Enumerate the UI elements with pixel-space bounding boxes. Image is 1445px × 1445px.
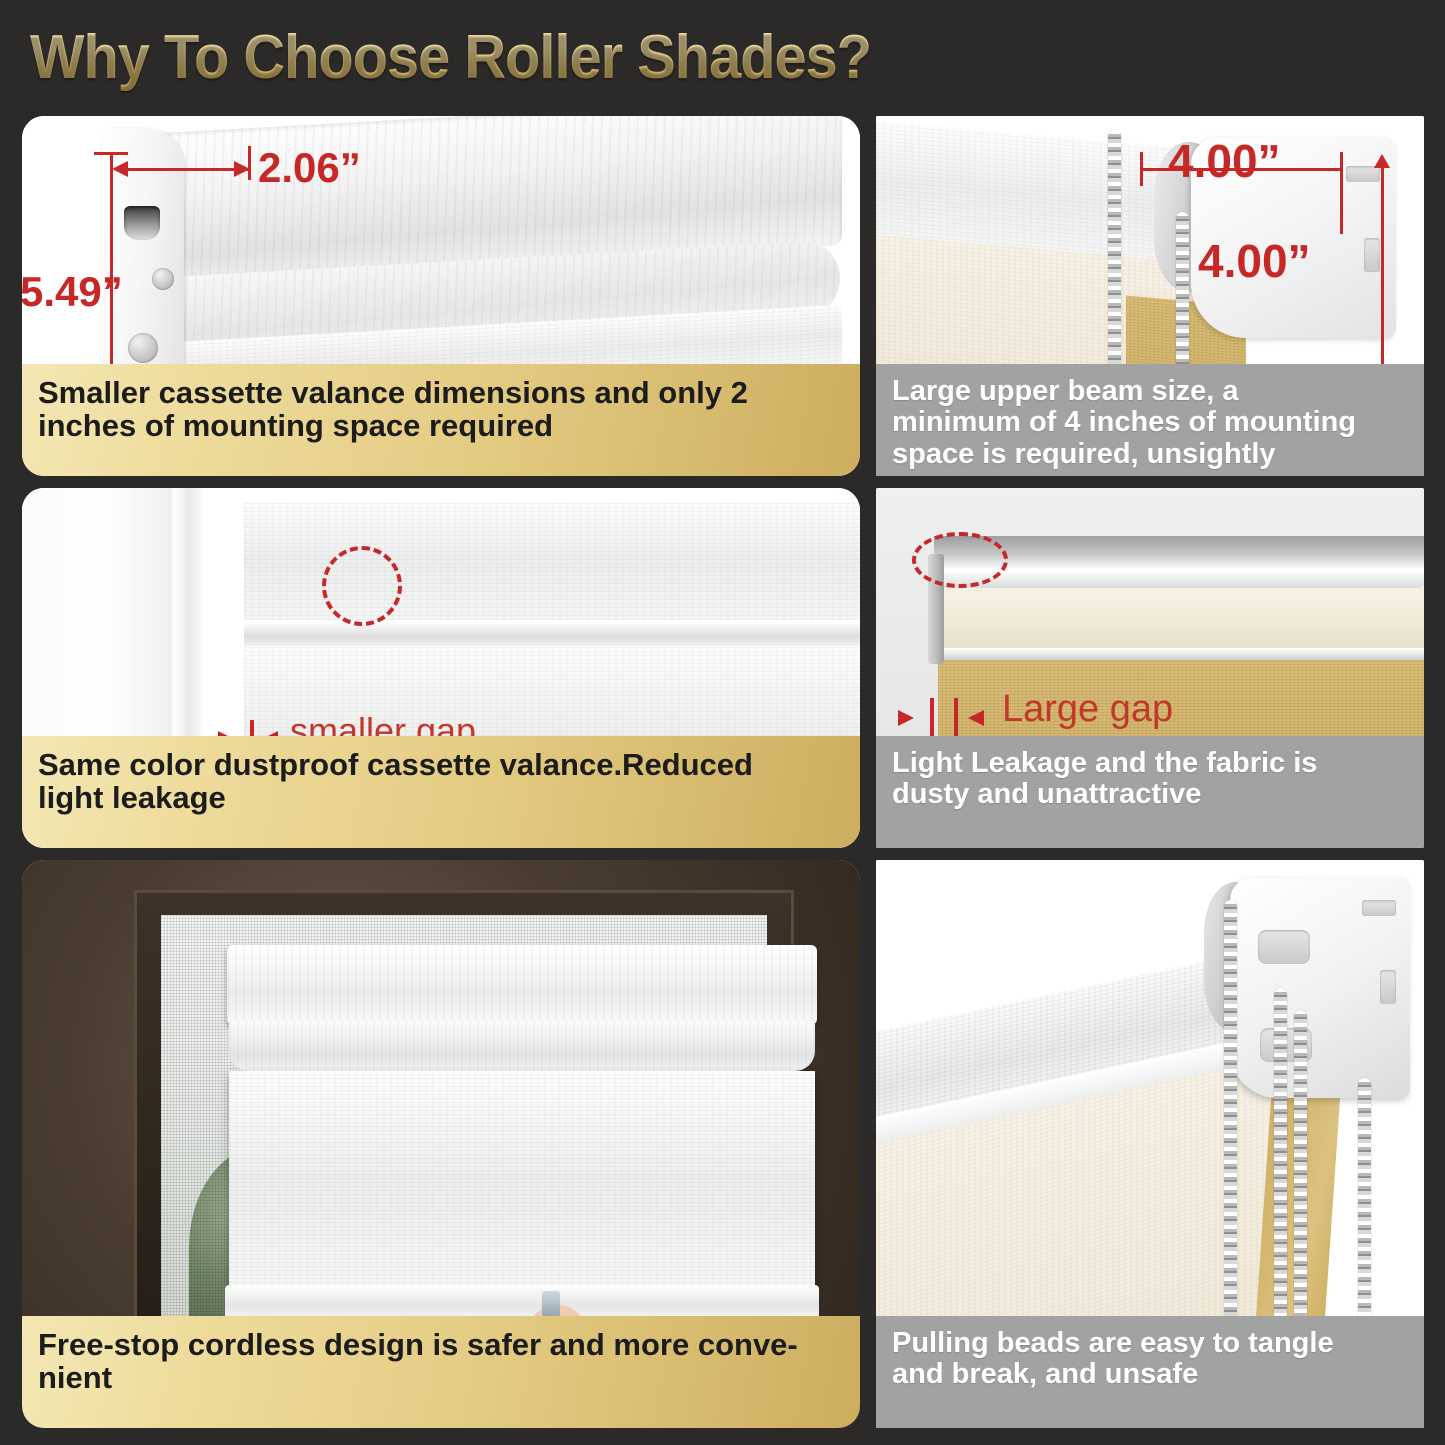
bead-chain-4 <box>1358 1078 1371 1320</box>
window-frame <box>134 890 794 1360</box>
caption-line-3: space is required, unsightly <box>892 439 1408 470</box>
caption-line-2: light leakage <box>38 781 844 814</box>
gap-highlight-circle <box>322 546 402 626</box>
gap-arrow-left-icon <box>968 710 984 726</box>
width-dimension-line <box>118 168 248 171</box>
caption-line-1: Same color dustproof cassette valance.Re… <box>38 748 844 781</box>
gap-measure-bar-left <box>930 698 934 736</box>
bead-chain-2 <box>1274 988 1287 1320</box>
beam-height-label: 4.00” <box>1198 234 1311 288</box>
bracket-slot-icon <box>1364 238 1380 272</box>
end-cap-slot-icon <box>124 206 160 240</box>
panel-pulling-beads: Pulling beads are easy to tangle and bre… <box>876 860 1424 1428</box>
panel-large-beam: 4.00” 4.00” Large upper beam size, a min… <box>876 116 1424 476</box>
panel-cassette-dimensions: 2.06” 5.49” Smaller cassette valance dim… <box>22 116 860 476</box>
bracket-slot-icon <box>1380 970 1396 1004</box>
valance-lip <box>936 648 1424 660</box>
caption-cordless-design: Free-stop cordless design is safer and m… <box>22 1316 860 1428</box>
caption-line-1: Smaller cassette valance dimensions and … <box>38 376 844 409</box>
shade-middle-rail <box>244 624 860 646</box>
bead-chain-1 <box>1224 900 1237 1320</box>
comparison-grid: 2.06” 5.49” Smaller cassette valance dim… <box>0 108 1445 1445</box>
caption-line-1: Light Leakage and the fabric is <box>892 748 1408 779</box>
caption-line-1: Pulling beads are easy to tangle <box>892 1328 1408 1359</box>
width-dimension-label: 2.06” <box>258 144 361 192</box>
caption-cassette-dimensions: Smaller cassette valance dimensions and … <box>22 364 860 476</box>
bracket-clip-icon <box>1258 930 1310 964</box>
bracket-notch-icon <box>1346 166 1380 182</box>
caption-large-beam: Large upper beam size, a minimum of 4 in… <box>876 364 1424 476</box>
caption-line-2: inches of mounting space required <box>38 409 844 442</box>
caption-line-2: and break, and unsafe <box>892 1359 1408 1390</box>
caption-large-gap: Light Leakage and the fabric is dusty an… <box>876 736 1424 848</box>
beam-width-tick-left <box>1140 152 1143 186</box>
caption-line-2: nient <box>38 1361 844 1394</box>
cassette-valance <box>227 945 817 1025</box>
caption-line-1: Large upper beam size, a <box>892 376 1408 407</box>
height-top-tick <box>94 152 128 155</box>
large-gap-label: Large gap <box>1002 688 1173 731</box>
panel-large-gap: Large gap Light Leakage and the fabric i… <box>876 488 1424 848</box>
caption-smaller-gap: Same color dustproof cassette valance.Re… <box>22 736 860 848</box>
gap-highlight-ellipse <box>912 532 1008 588</box>
cream-valance-strip <box>936 588 1424 650</box>
bracket-notch-icon <box>1362 900 1396 916</box>
beam-width-label: 4.00” <box>1168 134 1281 188</box>
width-arrow-right-icon <box>234 161 250 177</box>
gap-arrow-right-icon <box>898 710 914 726</box>
caption-line-2: minimum of 4 inches of mounting <box>892 407 1408 438</box>
mounting-bracket <box>1230 878 1410 1098</box>
bead-chain-3 <box>1294 1010 1307 1320</box>
title-bar: Why To Choose Roller Shades? <box>0 0 1445 108</box>
caption-line-1: Free-stop cordless design is safer and m… <box>38 1328 844 1361</box>
end-cap-screw-icon <box>152 268 174 290</box>
caption-pulling-beads: Pulling beads are easy to tangle and bre… <box>876 1316 1424 1428</box>
pull-tab-handle[interactable] <box>542 1291 560 1317</box>
beam-width-tick-right <box>1340 152 1343 234</box>
gap-measure-bar-right <box>954 698 958 736</box>
width-arrow-left-icon <box>112 161 128 177</box>
valance-front-lip <box>229 1021 815 1071</box>
height-dimension-label: 5.49” <box>22 268 123 316</box>
page-title: Why To Choose Roller Shades? <box>30 22 871 93</box>
beam-height-arrow-up-icon <box>1374 154 1390 168</box>
caption-line-2: dusty and unattractive <box>892 779 1408 810</box>
shade-bottom-bar <box>225 1285 819 1319</box>
panel-cordless-design: Free-stop cordless design is safer and m… <box>22 860 860 1428</box>
end-cap-mount-screw-icon <box>128 333 158 363</box>
panel-smaller-gap: smaller gap Same color dustproof cassett… <box>22 488 860 848</box>
roller-shade-fabric <box>229 1071 815 1291</box>
